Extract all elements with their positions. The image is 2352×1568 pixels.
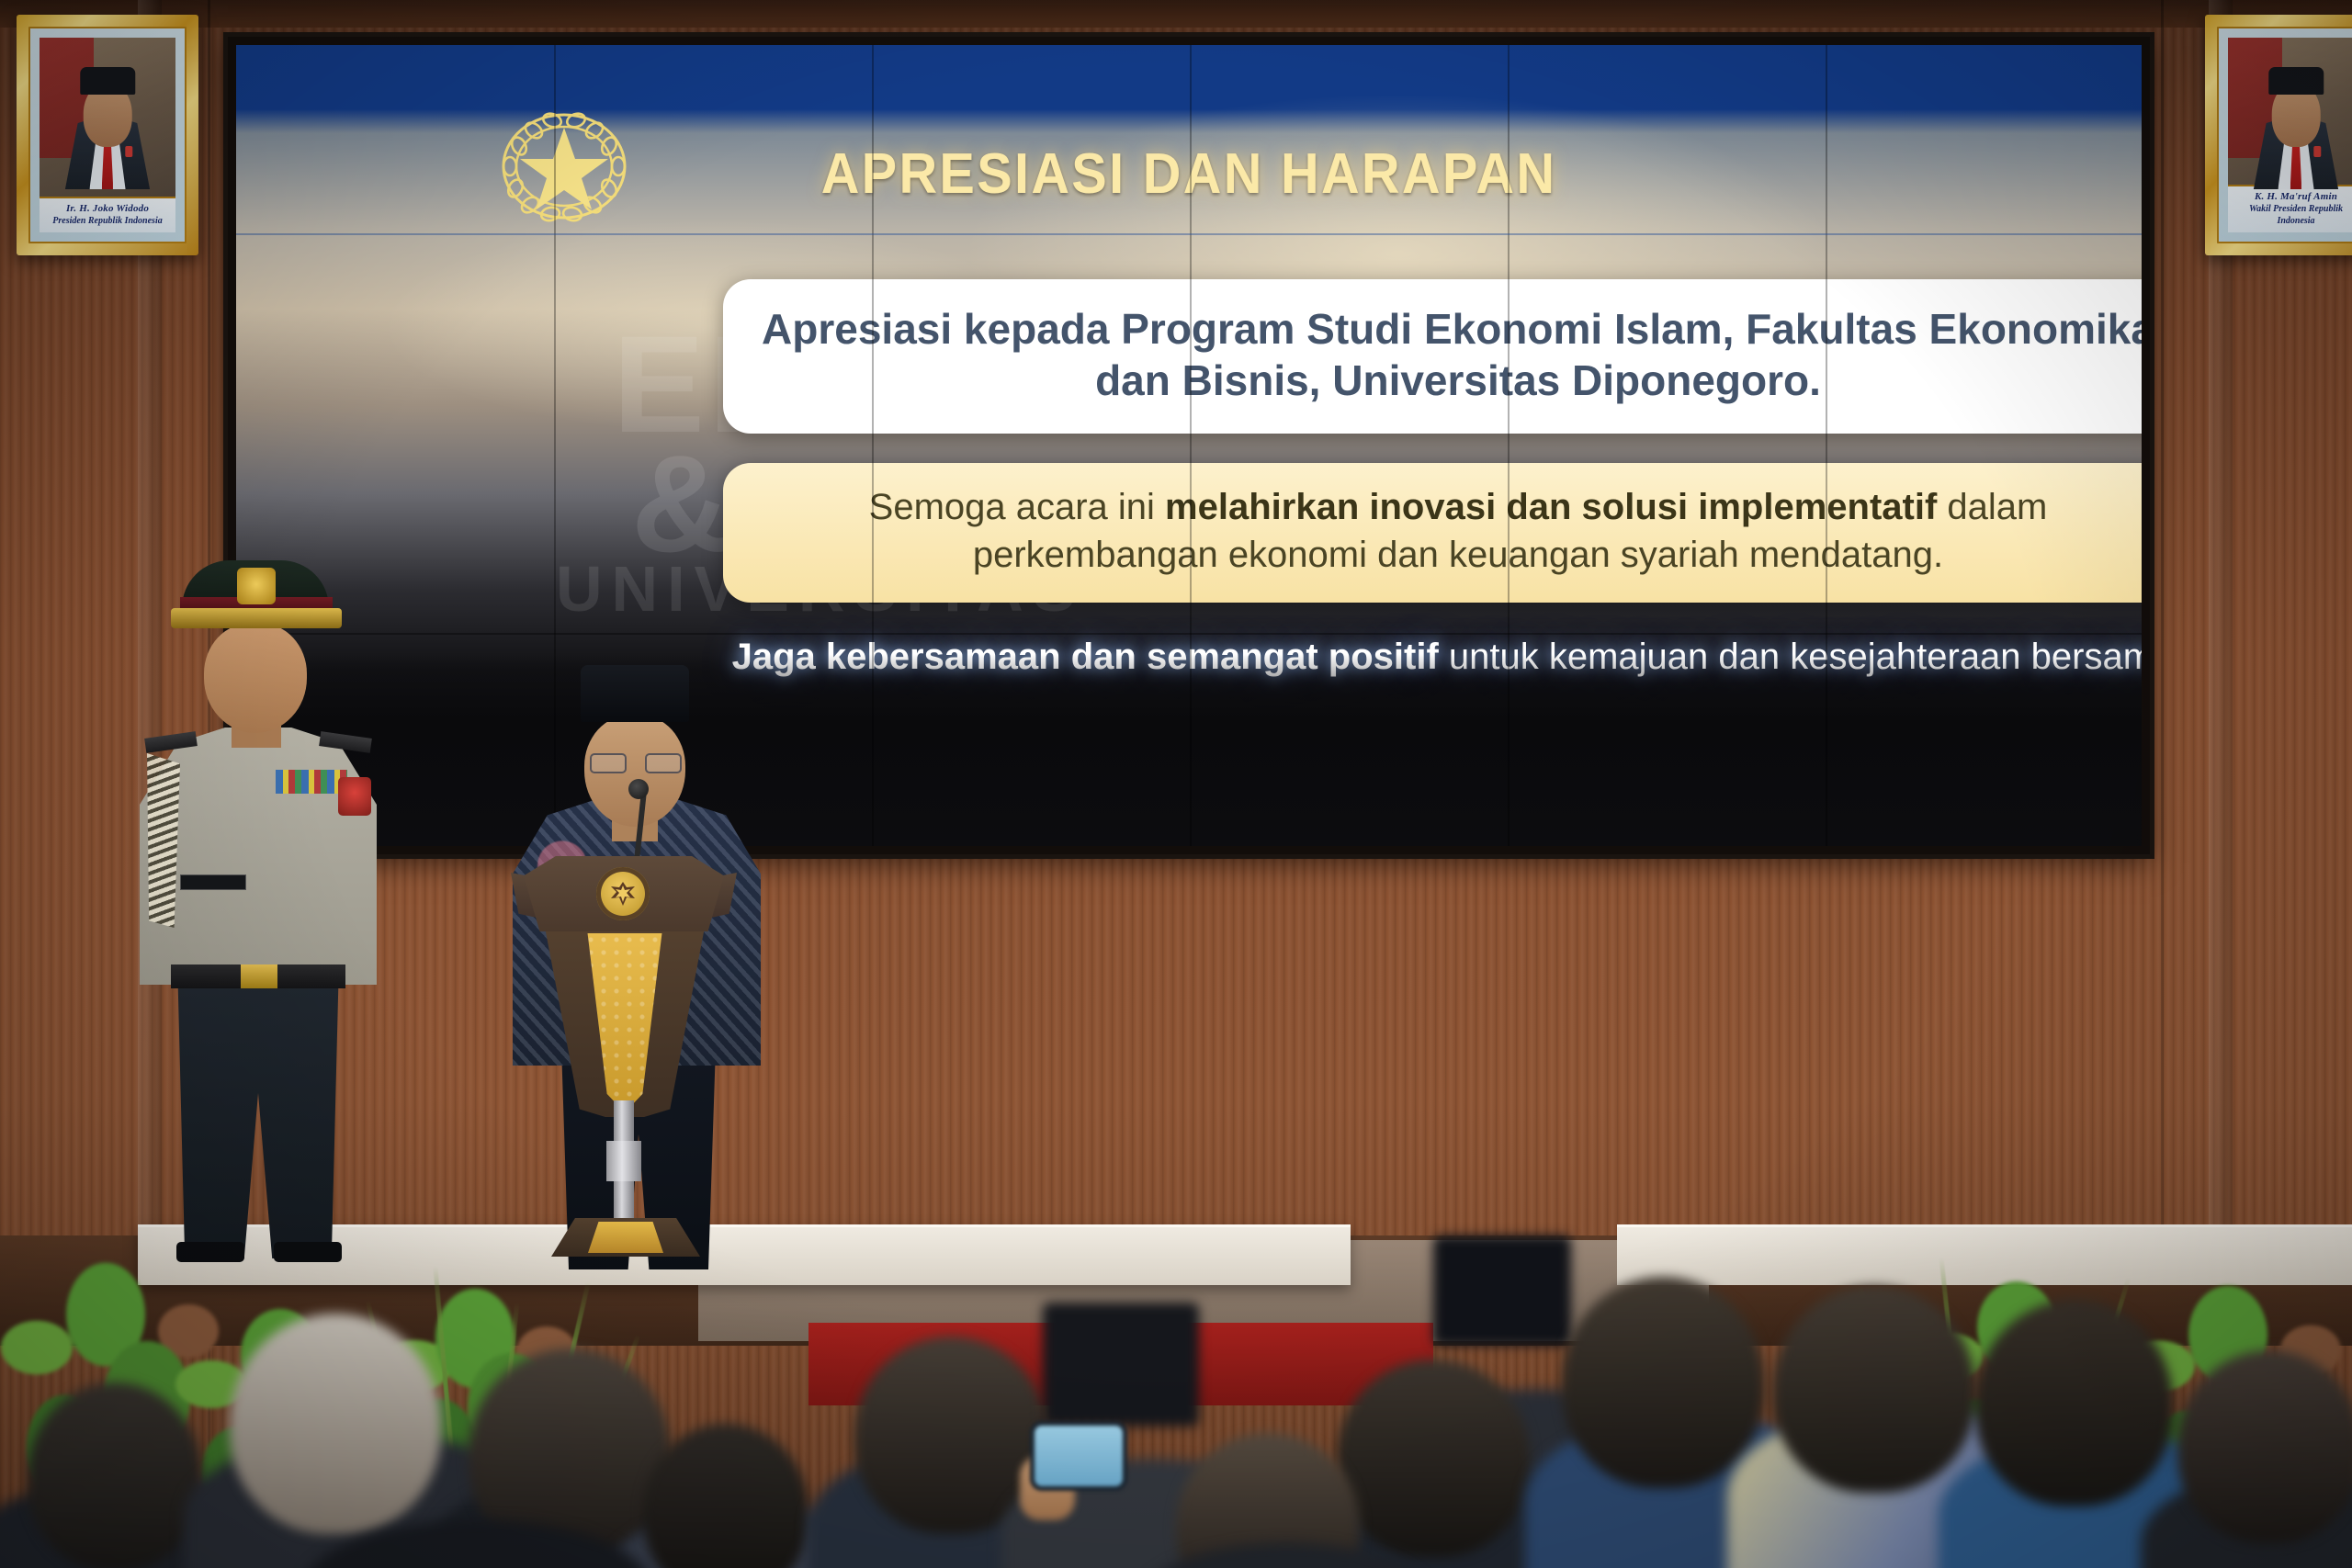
portrait-photo-president: Ir. H. Joko Widodo Presiden Republik Ind… bbox=[40, 38, 175, 232]
portrait-frame-president: Ir. H. Joko Widodo Presiden Republik Ind… bbox=[17, 15, 198, 255]
slide-cream-callout-box: Semoga acara ini melahirkan inovasi dan … bbox=[723, 463, 2142, 603]
cream-box-text: Semoga acara ini melahirkan inovasi dan … bbox=[762, 483, 2142, 579]
led-screen-surface: EK & UNIVERSITAS bbox=[236, 45, 2142, 846]
stage-apron-right bbox=[1617, 1224, 2352, 1285]
officer-shoe-left bbox=[176, 1242, 244, 1262]
slide-white-callout-box: Apresiasi kepada Program Studi Ekonomi I… bbox=[723, 279, 2142, 434]
officer-shoulder-patch bbox=[338, 777, 371, 816]
watermark-line-2: & bbox=[631, 440, 734, 567]
podium-base-accent bbox=[588, 1222, 663, 1253]
audience-head bbox=[1562, 1277, 1764, 1488]
speaker-peci-cap bbox=[581, 665, 689, 722]
portrait-bust bbox=[54, 65, 160, 190]
audience-head bbox=[1337, 1359, 1530, 1557]
officer-cap-brim bbox=[171, 608, 342, 628]
garuda-pancasila-emblem bbox=[606, 878, 639, 909]
peci-cap-icon bbox=[2268, 67, 2324, 95]
audience-head bbox=[2177, 1350, 2352, 1543]
portrait-caption-vice-president: K. H. Ma'ruf Amin Wakil Presiden Republi… bbox=[2228, 185, 2352, 232]
portrait-name: Ir. H. Joko Widodo bbox=[41, 203, 174, 216]
officer-belt-buckle bbox=[241, 964, 277, 988]
lapel-medal-icon bbox=[2314, 146, 2322, 157]
portrait-photo-vice-president: K. H. Ma'ruf Amin Wakil Presiden Republi… bbox=[2228, 38, 2352, 232]
audience-songkok-cap bbox=[1043, 1303, 1199, 1427]
screenshot-root: Ir. H. Joko Widodo Presiden Republik Ind… bbox=[0, 0, 2352, 1568]
peci-cap-icon bbox=[80, 67, 135, 95]
audience-songkok-cap bbox=[1433, 1235, 1571, 1346]
audience-head bbox=[1773, 1286, 1975, 1493]
portrait-title: Presiden Republik Indonesia bbox=[41, 216, 174, 228]
officer-face bbox=[204, 623, 307, 733]
audience-head bbox=[230, 1314, 441, 1534]
speaker-eyeglasses-icon bbox=[590, 753, 682, 773]
portrait-title: Wakil Presiden Republik Indonesia bbox=[2230, 204, 2352, 227]
microphone-head-icon bbox=[628, 779, 649, 799]
portrait-caption-president: Ir. H. Joko Widodo Presiden Republik Ind… bbox=[40, 197, 175, 232]
white-box-text: Apresiasi kepada Program Studi Ekonomi I… bbox=[760, 303, 2142, 406]
wall-top-trim bbox=[0, 0, 2352, 28]
cream-bold: melahirkan inovasi dan solusi implementa… bbox=[1165, 487, 1937, 527]
officer-cap-badge-icon bbox=[237, 568, 276, 604]
podium-stem-collar bbox=[606, 1141, 641, 1181]
audience-head bbox=[1975, 1300, 2173, 1506]
portrait-frame-vice-president: K. H. Ma'ruf Amin Wakil Presiden Republi… bbox=[2205, 15, 2352, 255]
officer-ribbon-bar bbox=[276, 770, 347, 794]
screen-lower-dark-area bbox=[236, 654, 2142, 846]
portrait-mat: Ir. H. Joko Widodo Presiden Republik Ind… bbox=[28, 27, 187, 243]
slide-title: APRESIASI DAN HARAPAN bbox=[303, 141, 2075, 207]
audience-head bbox=[28, 1382, 202, 1568]
cream-prefix: Semoga acara ini bbox=[869, 487, 1165, 527]
portrait-name: K. H. Ma'ruf Amin bbox=[2230, 191, 2352, 204]
smartphone-screen[interactable] bbox=[1035, 1426, 1123, 1486]
lapel-medal-icon bbox=[126, 146, 133, 157]
officer-shoe-right bbox=[274, 1242, 342, 1262]
portrait-bust bbox=[2243, 65, 2348, 190]
officer-name-tag bbox=[180, 874, 246, 890]
led-video-wall: EK & UNIVERSITAS bbox=[228, 37, 2150, 854]
portrait-mat: K. H. Ma'ruf Amin Wakil Presiden Republi… bbox=[2217, 27, 2352, 243]
